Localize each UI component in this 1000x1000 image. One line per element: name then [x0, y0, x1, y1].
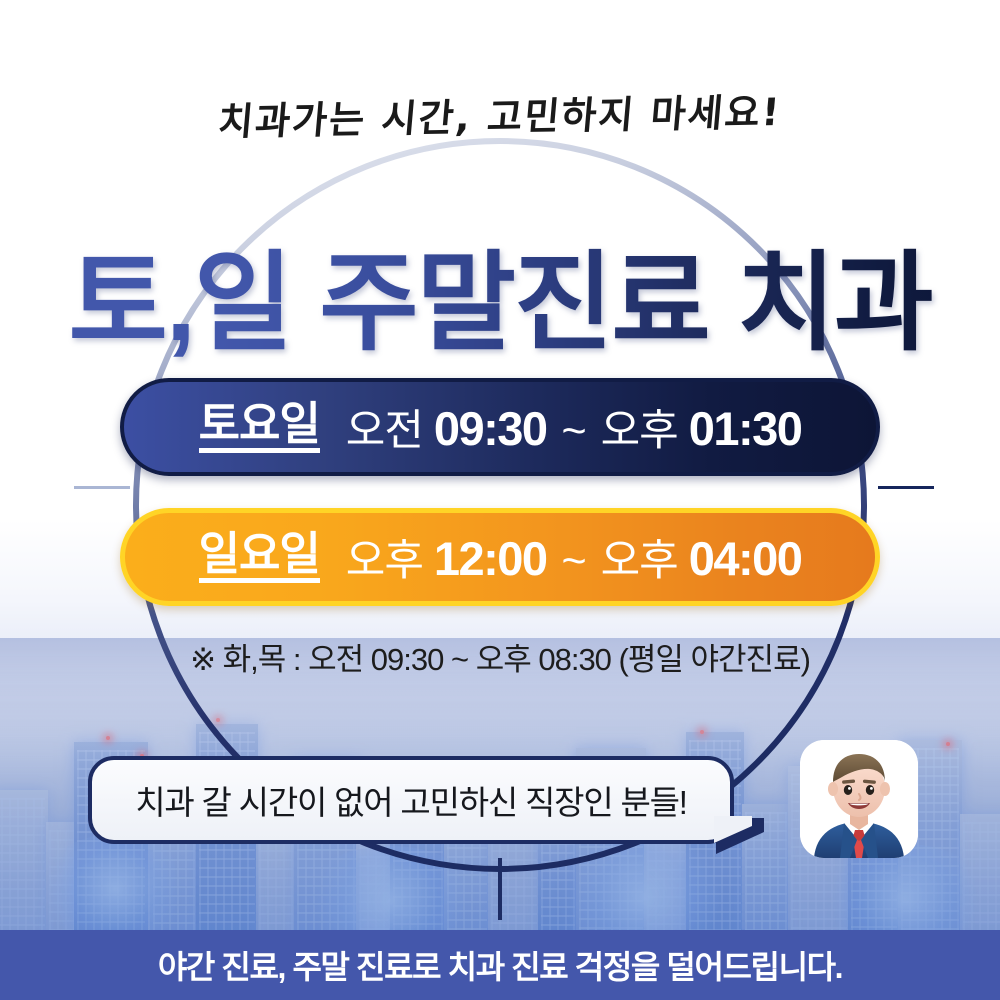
- sunday-open-time: 12:00: [434, 532, 547, 585]
- sunday-close-time: 04:00: [689, 532, 802, 585]
- bottom-banner: 야간 진료, 주말 진료로 치과 진료 걱정을 덜어드립니다.: [0, 930, 1000, 1000]
- schedule-pill-saturday: 토요일 오전 09:30 ~ 오후 01:30: [120, 378, 880, 476]
- sunday-open-meridiem: 오후: [346, 537, 423, 585]
- bottom-banner-text: 야간 진료, 주말 진료로 치과 진료 걱정을 덜어드립니다.: [158, 942, 842, 988]
- schedule-pill-sunday: 일요일 오후 12:00 ~ 오후 04:00: [120, 508, 880, 606]
- tick-mark-right: [878, 486, 934, 489]
- page-title: 토,일 주말진료 치과: [0, 244, 1000, 363]
- saturday-close-time: 01:30: [689, 402, 802, 455]
- saturday-open-meridiem: 오전: [346, 407, 423, 455]
- saturday-day-label: 토요일: [199, 401, 320, 453]
- weekday-note: ※ 화,목 : 오전 09:30 ~ 오후 08:30 (평일 야간진료): [0, 634, 1000, 679]
- speech-bubble-text: 치과 갈 시간이 없어 고민하신 직장인 분들!: [135, 776, 687, 824]
- promo-poster: 치과가는 시간, 고민하지 마세요! 토,일 주말진료 치과 토요일 오전 09…: [0, 0, 1000, 1000]
- tick-mark-bottom: [498, 858, 502, 920]
- sunday-close-meridiem: 오후: [601, 537, 678, 585]
- speech-bubble-tail-fill: [714, 816, 752, 843]
- saturday-separator: ~: [558, 407, 590, 455]
- tick-mark-left: [74, 486, 130, 489]
- saturday-hours: 오전 09:30 ~ 오후 01:30: [346, 396, 802, 458]
- sunday-separator: ~: [558, 537, 590, 585]
- sunday-day-label: 일요일: [199, 531, 320, 583]
- office-worker-avatar: [800, 740, 918, 858]
- speech-bubble: 치과 갈 시간이 없어 고민하신 직장인 분들!: [88, 756, 734, 844]
- sunday-hours: 오후 12:00 ~ 오후 04:00: [346, 526, 802, 588]
- saturday-close-meridiem: 오후: [601, 407, 678, 455]
- saturday-open-time: 09:30: [434, 402, 547, 455]
